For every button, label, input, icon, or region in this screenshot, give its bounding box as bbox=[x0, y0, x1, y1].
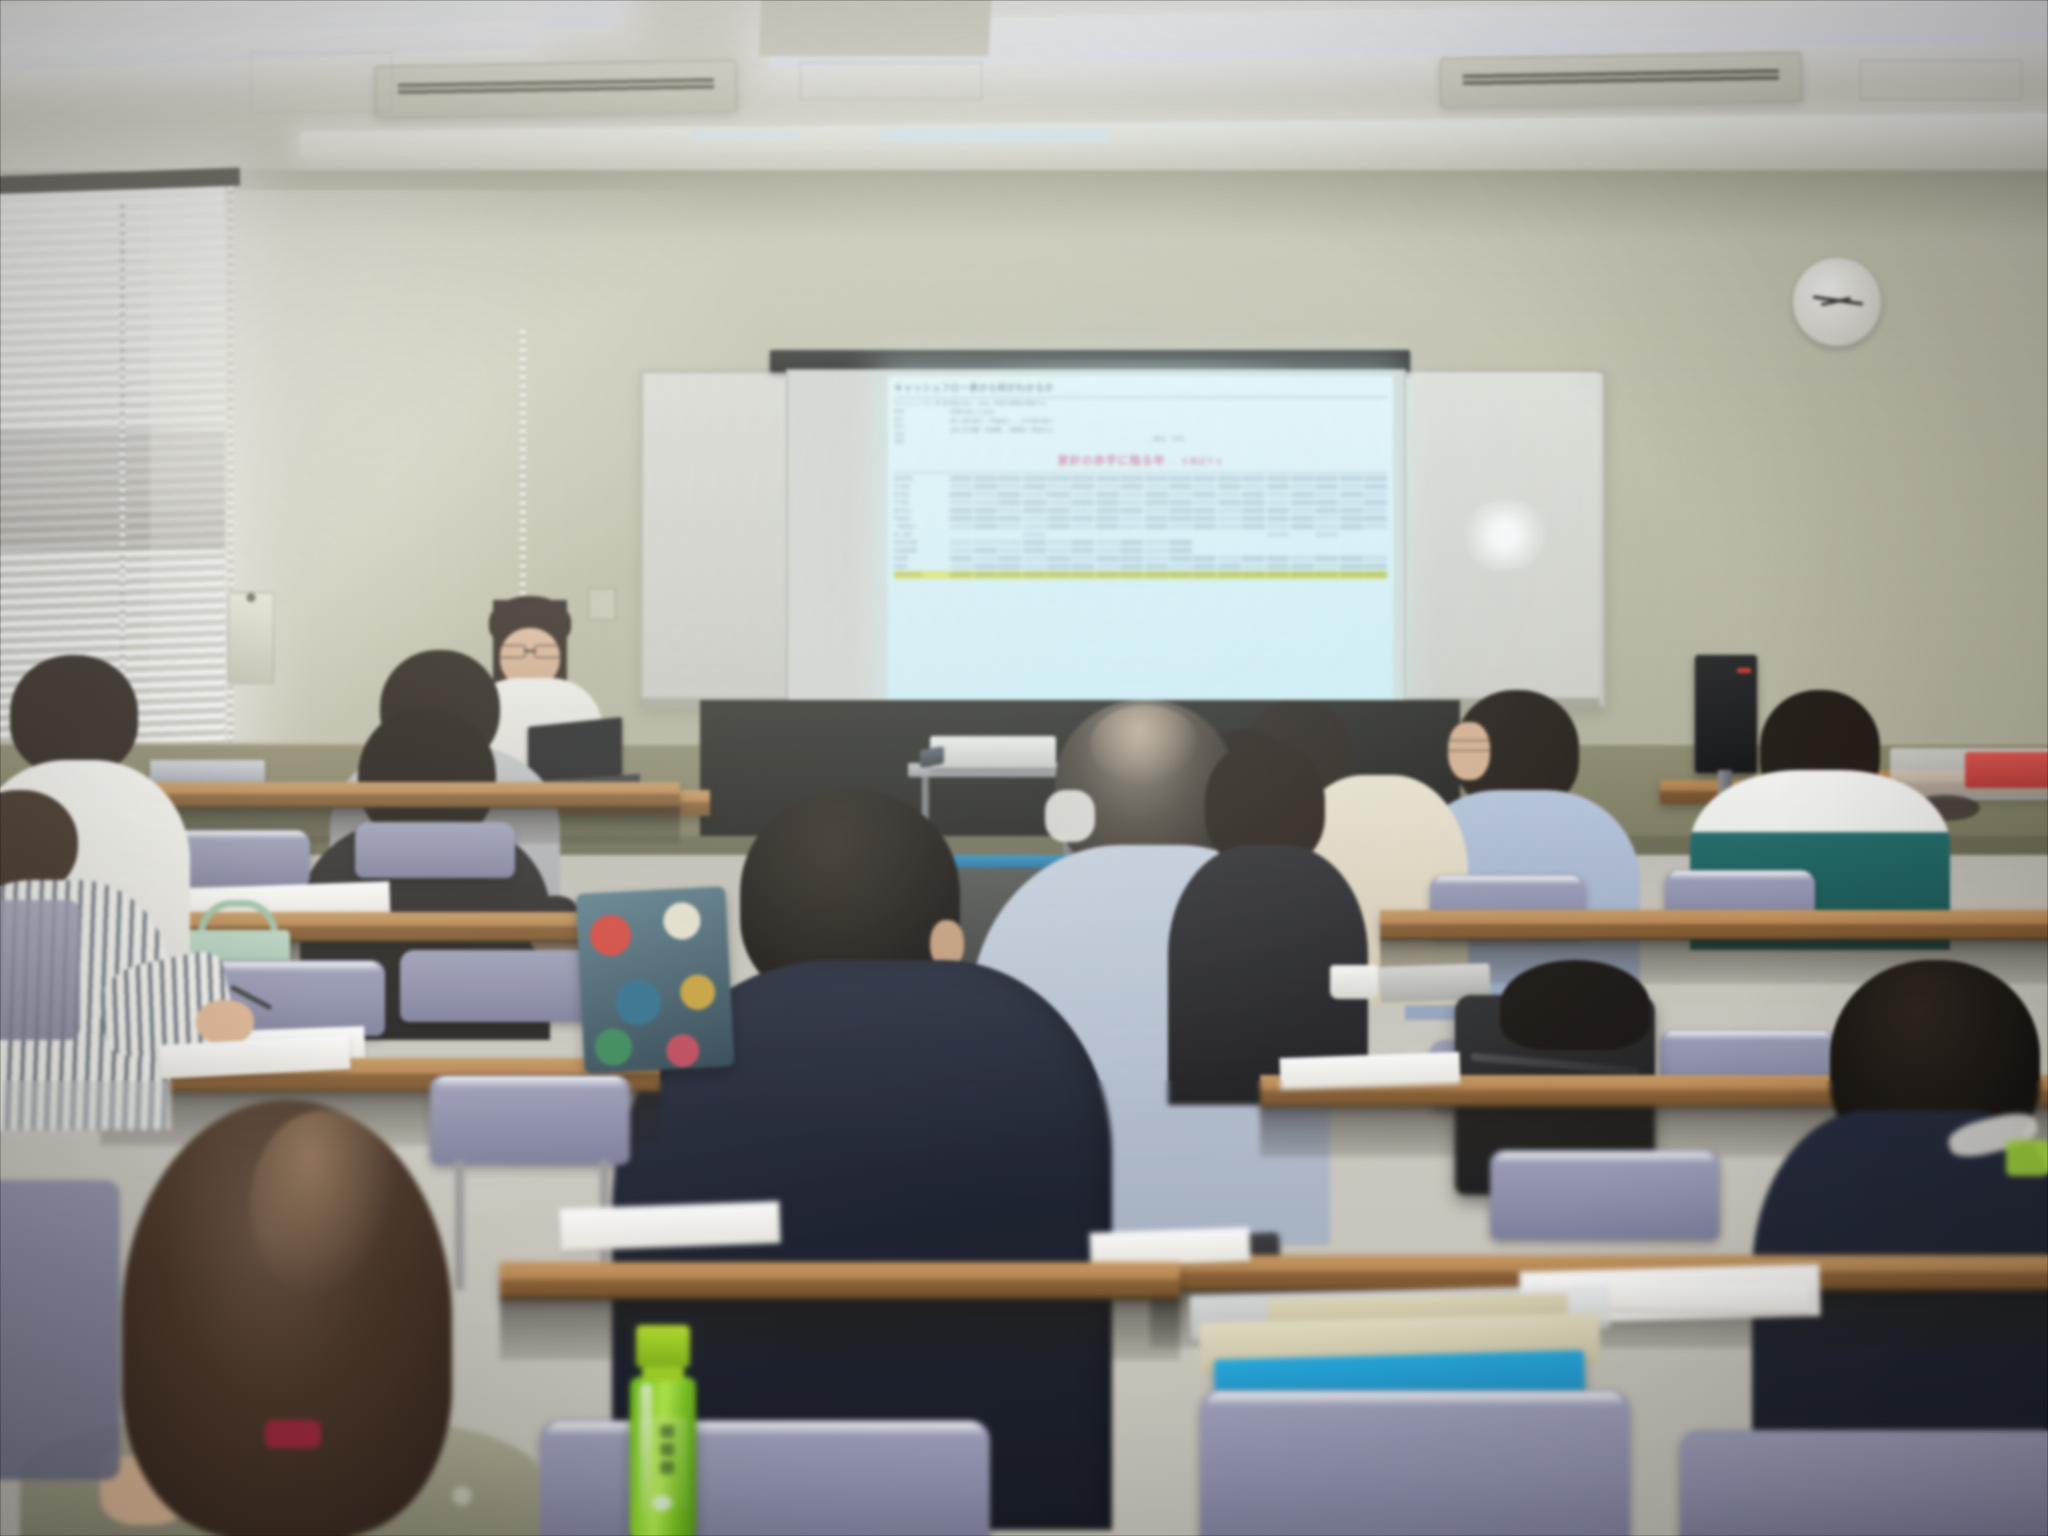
slide-table-row-label: 金融資産残高 bbox=[894, 572, 948, 578]
blind-cord[interactable] bbox=[120, 200, 125, 710]
ceiling-light-strip bbox=[690, 130, 800, 142]
chair[interactable] bbox=[0, 900, 80, 1040]
slide-row-label: 年度 bbox=[894, 409, 950, 417]
attendee-white-head bbox=[10, 655, 138, 775]
slide-table-row: 経過年数 bbox=[894, 475, 1387, 483]
slide-table-row: 子 年齢 bbox=[894, 499, 1387, 507]
chair-highlight bbox=[435, 1077, 625, 1088]
slide-table-row: 収入合計 bbox=[894, 531, 1387, 539]
slide-divider bbox=[894, 472, 1387, 473]
handout-paper[interactable] bbox=[559, 1201, 780, 1251]
slide-row-label: 支出 bbox=[894, 424, 950, 432]
ceiling-beam bbox=[758, 0, 991, 56]
slide-divider bbox=[894, 397, 1387, 398]
chair[interactable] bbox=[1680, 1430, 2048, 1536]
slide-table-row-label: 子 年齢 bbox=[894, 500, 948, 506]
slide-table-row: 基本生活費 bbox=[894, 539, 1387, 547]
slide-table-row: 妻 年齢 bbox=[894, 491, 1387, 499]
slide-table-row: 給与収入 bbox=[894, 507, 1387, 515]
chair-highlight bbox=[1664, 1031, 1831, 1040]
paper-cup bbox=[1330, 965, 1378, 999]
wall-control-panel[interactable] bbox=[228, 592, 274, 684]
ceiling-air-vent bbox=[1440, 52, 1803, 108]
chair[interactable] bbox=[540, 1420, 990, 1536]
face-mask bbox=[1045, 790, 1095, 842]
slide-table-row: 一時的収入 bbox=[894, 523, 1387, 531]
projector bbox=[930, 736, 1056, 768]
hair-clip bbox=[265, 1420, 321, 1448]
chair[interactable] bbox=[1490, 1150, 1720, 1240]
chair[interactable] bbox=[1200, 1390, 1630, 1536]
slide-row-label: 収入 bbox=[894, 417, 950, 425]
chair[interactable] bbox=[430, 1075, 630, 1165]
chair-highlight bbox=[1206, 1392, 1624, 1406]
attendee-glasses-face bbox=[1448, 722, 1490, 780]
chair[interactable] bbox=[400, 950, 590, 1022]
projected-slide: キャッシュフロー表から何がわかるか キャッシュフロー表 各年度の収入・支出・残高… bbox=[888, 376, 1393, 724]
eyeglasses-icon bbox=[1442, 740, 1492, 751]
desk bbox=[1380, 910, 2048, 940]
attendee-striped-hand bbox=[196, 1000, 254, 1044]
slide-table-row-label: 夫 年齢 bbox=[894, 484, 948, 490]
desk bbox=[500, 1262, 1180, 1300]
chair-leg bbox=[455, 1160, 464, 1290]
handout-paper[interactable] bbox=[1089, 1227, 1250, 1267]
patterned-tote-bag[interactable] bbox=[575, 886, 734, 1074]
bottle-neck bbox=[642, 1365, 684, 1381]
green-tea-bottle[interactable] bbox=[628, 1325, 700, 1536]
bottle-label-dot bbox=[652, 1495, 672, 1511]
slide-table-row-label: 基本生活費 bbox=[894, 540, 948, 546]
slide-table-row-label: 住居関連費 bbox=[894, 548, 948, 554]
slide-red-highlight-suffix: … を確認する bbox=[1170, 457, 1224, 466]
slide-subtitle: キャッシュフロー表 各年度の収入・支出・残高の推移を確認する bbox=[894, 400, 1387, 407]
wall-jack-plate bbox=[588, 588, 616, 620]
slide-table-row: 夫 年齢 bbox=[894, 483, 1387, 491]
slide-row-label: 残高 bbox=[894, 439, 950, 447]
slide-table-row-label: 年金収入 bbox=[894, 516, 948, 522]
slide-note-line: （単位：万円） bbox=[950, 436, 1387, 445]
green-item bbox=[2006, 1140, 2048, 1176]
slide-title: キャッシュフロー表から何がわかるか bbox=[894, 381, 1387, 394]
slide-table-row: 保険料 bbox=[894, 563, 1387, 571]
handout-paper[interactable] bbox=[1279, 1052, 1460, 1090]
attendee-back-head bbox=[1500, 960, 1650, 1050]
chair-highlight bbox=[1434, 876, 1581, 885]
wall-clock bbox=[1793, 258, 1881, 346]
slide-table-row-label: 給与収入 bbox=[894, 508, 948, 514]
chair-highlight bbox=[546, 1422, 984, 1436]
red-box bbox=[1965, 752, 2048, 788]
hair-sheen bbox=[250, 1110, 400, 1300]
chair[interactable] bbox=[0, 1180, 120, 1480]
slide-row-label: 収支 bbox=[894, 432, 950, 440]
slide-table-row-label: 経過年数 bbox=[894, 476, 948, 482]
ceiling-light-strip bbox=[880, 128, 1110, 142]
slide-red-highlight-text: 家計の赤字に陥る年 bbox=[1058, 455, 1166, 467]
ceiling-air-vent bbox=[375, 60, 738, 118]
ceiling-panel bbox=[250, 52, 392, 112]
slide-table-row-label: 保険料 bbox=[894, 564, 948, 570]
slide-table-row: 年金収入 bbox=[894, 515, 1387, 523]
slide-data-table: 経過年数 夫 年齢 妻 年齢 子 年齢 給与収入 年金収入 一時的収入 収入合計… bbox=[894, 475, 1387, 579]
chair-highlight bbox=[1495, 1152, 1715, 1163]
desk bbox=[120, 782, 680, 808]
slide-text-line: 収入 給与収入・年金収入 … その他の収入 bbox=[950, 418, 1387, 427]
slide-text-line: 世帯の収入と支出 bbox=[950, 409, 1387, 418]
control-knob[interactable] bbox=[247, 593, 256, 602]
attendee-bluegrey-hair-sheen bbox=[1090, 705, 1200, 785]
slide-table-row-label: 教育費 bbox=[894, 556, 948, 562]
ceiling-panel bbox=[1860, 60, 2022, 100]
slide-table-row-highlighted: 金融資産残高 bbox=[894, 571, 1387, 579]
slide-table-row-label: 一時的収入 bbox=[894, 524, 948, 530]
bottle-cap[interactable] bbox=[636, 1325, 690, 1367]
speaker-led-icon bbox=[1737, 668, 1751, 673]
slide-text-line: 支出 生活費・住居費 … 保険料・税金など bbox=[950, 427, 1387, 436]
slide-table-row: 教育費 bbox=[894, 555, 1387, 563]
eyeglasses-icon bbox=[498, 645, 562, 656]
slide-table-row-label: 妻 年齢 bbox=[894, 492, 948, 498]
chair-highlight bbox=[1669, 871, 1811, 880]
whiteboard-glare bbox=[1460, 500, 1550, 570]
slide-row-labels: 年度 収入 支出 収支 残高 bbox=[894, 409, 950, 447]
slide-table-row-label: 収入合計 bbox=[894, 532, 948, 538]
slide-table-row: 住居関連費 bbox=[894, 547, 1387, 555]
slide-content: キャッシュフロー表から何がわかるか キャッシュフロー表 各年度の収入・支出・残高… bbox=[888, 376, 1393, 724]
desk-underside bbox=[500, 1296, 1180, 1360]
slide-red-highlight: 家計の赤字に陥る年 … を確認する bbox=[894, 452, 1387, 468]
chair[interactable] bbox=[355, 822, 515, 878]
seminar-room-photo: キャッシュフロー表から何がわかるか キャッシュフロー表 各年度の収入・支出・残高… bbox=[0, 0, 2048, 1536]
ceiling-panel bbox=[800, 62, 982, 100]
